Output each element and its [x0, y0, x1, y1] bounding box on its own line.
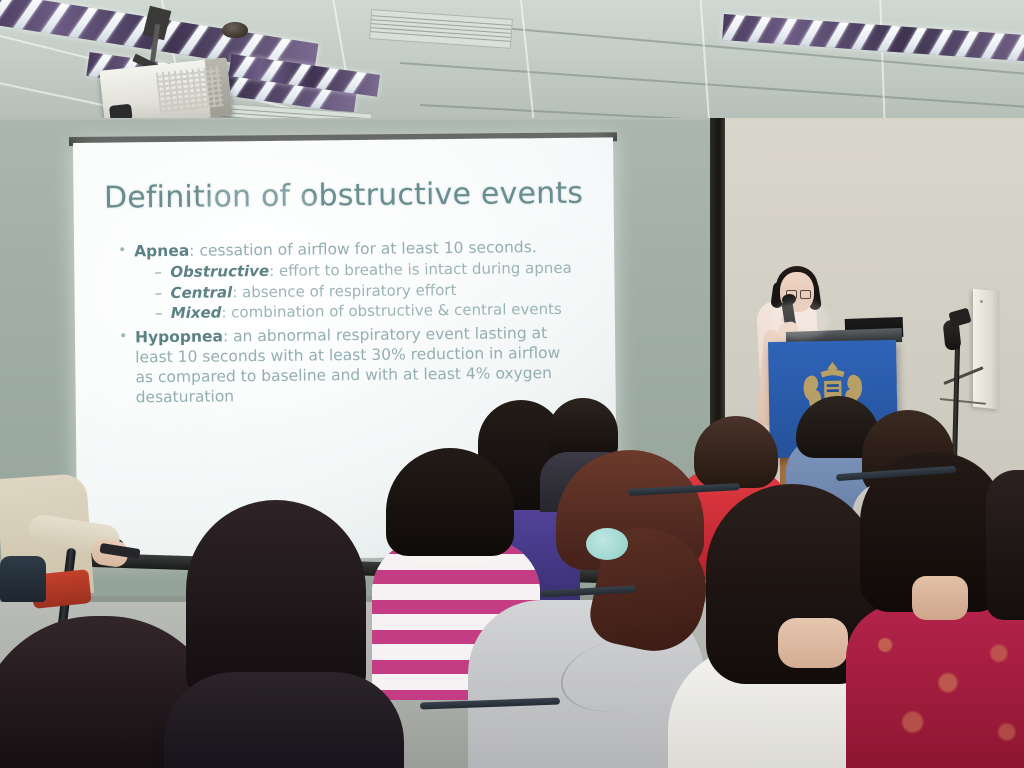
slide-bullet-keyword: Apnea — [134, 242, 189, 261]
slide-sub-text: : effort to breathe is intact during apn… — [269, 259, 572, 280]
slide-sub-list: Obstructive: effort to breathe is intact… — [134, 259, 581, 324]
recessed-louver-light — [722, 14, 1024, 63]
slide-bullet: Apnea: cessation of airflow for at least… — [118, 237, 581, 324]
slide-bullet-list: Apnea: cessation of airflow for at least… — [100, 237, 590, 408]
hair-scrunchie — [586, 528, 628, 560]
slide-sub-text: : combination of obstructive & central e… — [221, 300, 562, 322]
slide-sub-bullet: Mixed: combination of obstructive & cent… — [157, 300, 581, 324]
audience-hair-left-fg3 — [186, 500, 366, 700]
slide-title: Definition of obstructive events — [99, 176, 587, 216]
chair-back — [0, 556, 46, 602]
slide-sub-keyword: Central — [170, 283, 232, 302]
slide-bullet-text: : cessation of airflow for at least 10 s… — [189, 238, 537, 260]
slide-sub-keyword: Obstructive — [170, 262, 269, 281]
slide-sub-keyword: Mixed — [171, 303, 222, 322]
ceiling-dome-speaker — [222, 22, 248, 38]
lecture-hall-photo: Definition of obstructive events Apnea: … — [0, 0, 1024, 768]
slide-bullet: Hypopnea: an abnormal respiratory event … — [119, 322, 582, 407]
slide-bullet-keyword: Hypopnea — [135, 327, 223, 346]
slide-sub-text: : absence of respiratory effort — [232, 280, 456, 300]
wall-speaker-box — [973, 289, 999, 410]
air-vent — [369, 9, 513, 49]
audience-torso-paisley — [846, 604, 1024, 768]
ceiling — [0, 0, 1024, 132]
audience-neck — [778, 618, 848, 668]
audience-neck — [912, 576, 968, 620]
audience-hair-edge-right — [986, 470, 1024, 620]
audience-torso-left-fg — [164, 672, 404, 768]
wall-speaker-screw — [980, 300, 983, 303]
